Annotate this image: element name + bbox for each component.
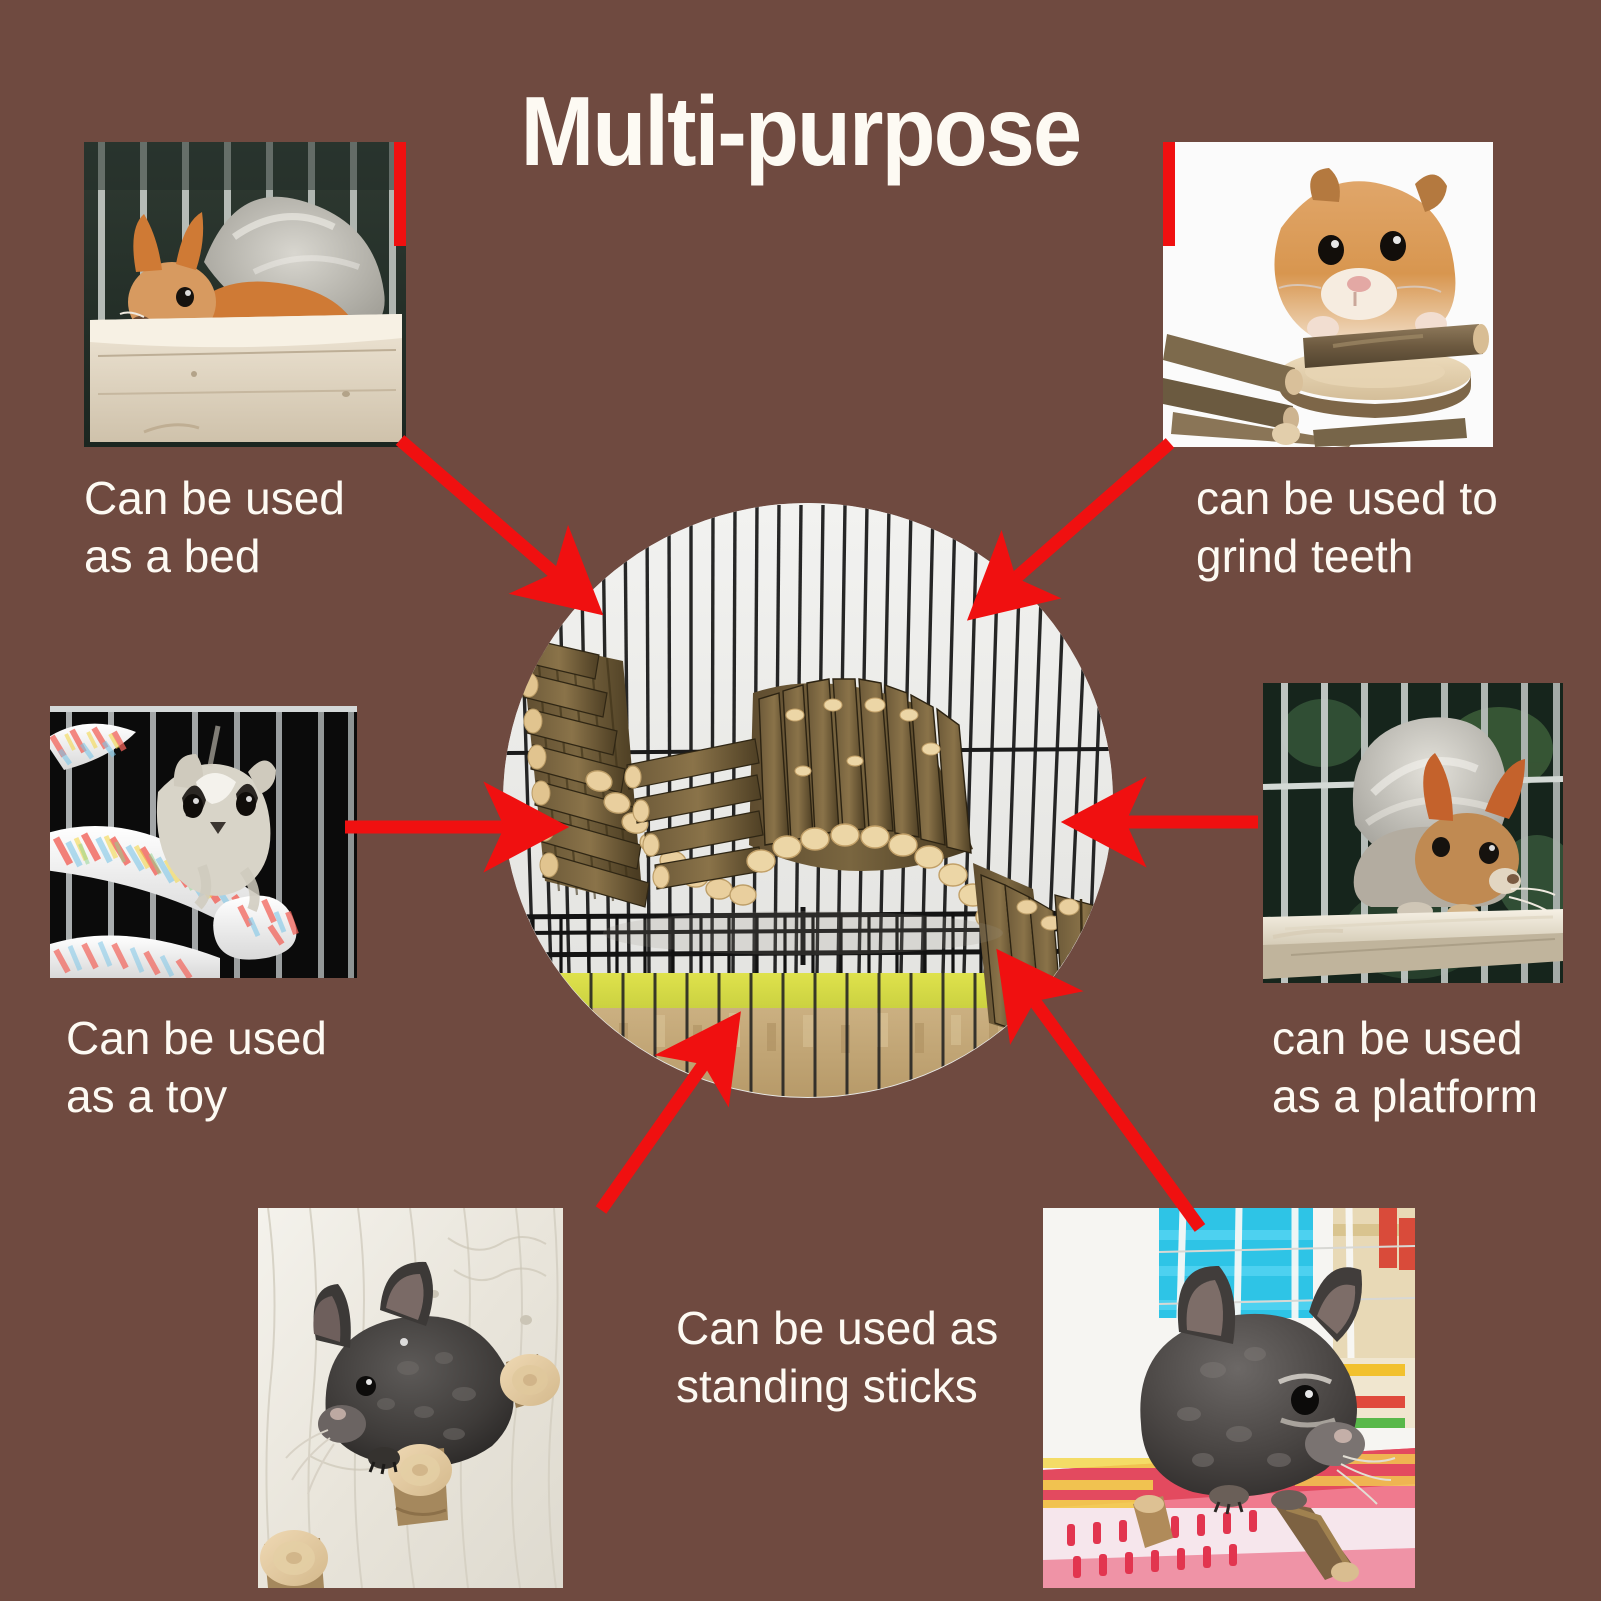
red-accent-bar-top-left-photo <box>394 142 406 246</box>
caption-can-be-used-as-a-bed: Can be used as a bed <box>84 470 464 586</box>
hamster-chewing-sticks-illustration <box>1163 142 1493 447</box>
photo-sugar-glider-on-rope <box>50 706 357 978</box>
squirrel-on-platform-illustration <box>1263 683 1563 983</box>
wooden-ladder-bridge-in-cage-illustration <box>503 503 1113 1098</box>
photo-squirrel-on-platform <box>1263 683 1563 983</box>
infographic-root: Multi-purpose <box>0 0 1601 1601</box>
chinchilla-in-cage-illustration <box>1043 1208 1415 1588</box>
squirrel-in-wooden-box-illustration <box>84 142 406 447</box>
photo-squirrel-in-wooden-box <box>84 142 406 447</box>
red-accent-bar-top-right-photo <box>1163 142 1175 246</box>
caption-can-be-used-as-a-toy: Can be used as a toy <box>66 1010 446 1126</box>
sugar-glider-on-rope-illustration <box>50 706 357 978</box>
center-product-photo <box>503 503 1113 1098</box>
caption-can-be-used-as-a-platform: can be used as a platform <box>1272 1010 1601 1126</box>
photo-hamster-chewing-sticks <box>1163 142 1493 447</box>
chinchilla-on-wood-pegs-illustration <box>258 1208 563 1588</box>
caption-can-be-used-as-standing-sticks: Can be used as standing sticks <box>676 1300 1076 1416</box>
caption-can-be-used-to-grind-teeth: can be used to grind teeth <box>1196 470 1596 586</box>
photo-chinchilla-in-cage <box>1043 1208 1415 1588</box>
photo-chinchilla-on-wood-pegs <box>258 1208 563 1588</box>
